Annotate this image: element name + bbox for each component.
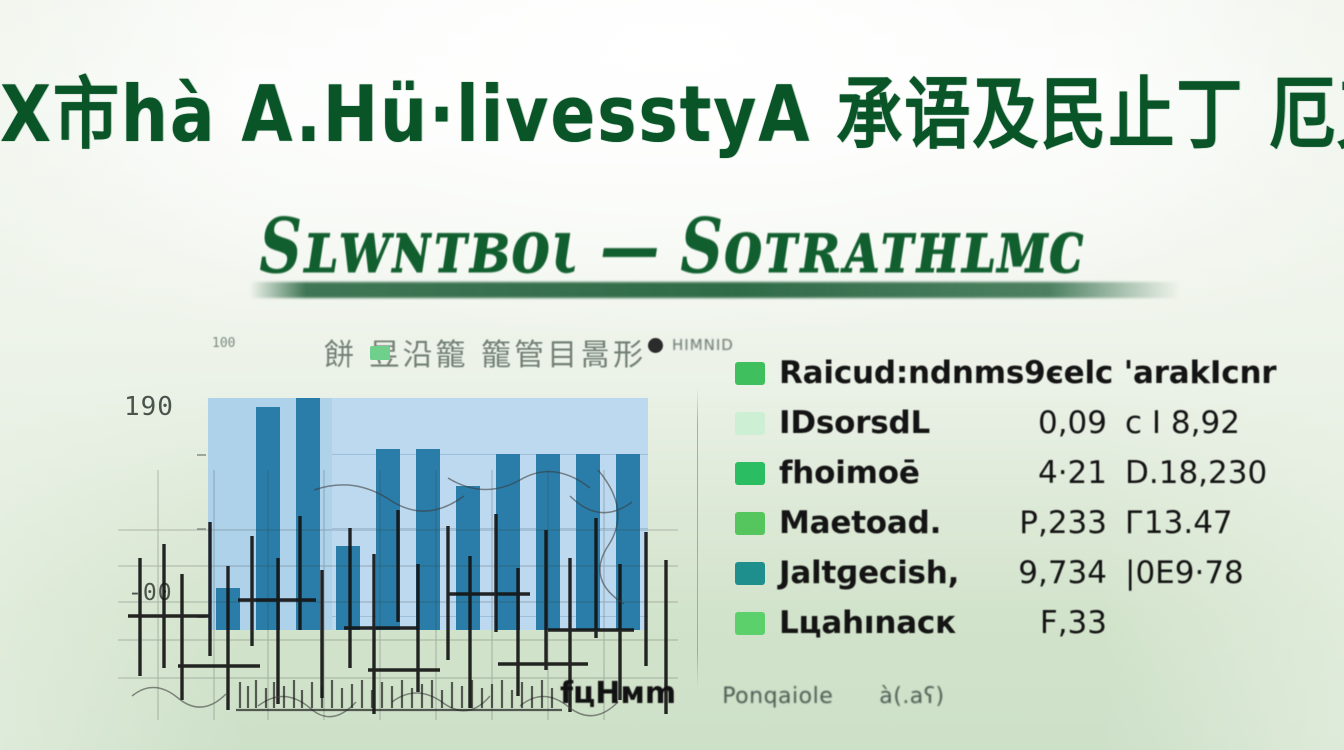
legend-marker-label: HІMNІD xyxy=(672,336,734,354)
subtitle-ink-smear xyxy=(250,282,1180,298)
legend-row-value-primary: 4·21 xyxy=(1038,455,1125,491)
chart-bar xyxy=(456,486,481,630)
axis-tick xyxy=(197,454,206,456)
footer-barcode-texture xyxy=(236,678,566,712)
bar-chart-panel: 100 餅 昱沿籠 籠管目暠形 190 -00 xyxy=(108,330,648,720)
legend-swatch xyxy=(735,462,765,485)
legend-row-value-primary: 0,09 xyxy=(1038,405,1125,441)
chart-header-swatch xyxy=(370,346,390,360)
poster-subtitle-container: Sʟᴡɴᴛʙᴏι — Sᴏᴛʀᴀᴛʜʟᴍᴄ xyxy=(0,216,1344,278)
chart-bar xyxy=(536,454,561,630)
legend-marker: HІMNІD xyxy=(648,336,734,354)
legend-row[interactable]: fhoimoē4·21D.18,230 xyxy=(735,448,1315,498)
chart-bar xyxy=(616,454,641,630)
legend-swatch xyxy=(735,412,765,435)
footer-sub-label-2: à(.aʕ) xyxy=(879,684,944,709)
legend-row-label: Μaetoad. xyxy=(779,505,941,541)
legend-row-label: Jаltɡecish, xyxy=(779,555,959,591)
legend-row-value-secondary: |0E9·78 xyxy=(1125,555,1315,591)
axis-tick xyxy=(197,528,206,530)
y-axis-top-label: 190 xyxy=(124,392,174,422)
legend-table: Raicud:ndnms9єelc 'arakIcnrIDsorsdL0,09c… xyxy=(735,348,1315,648)
y-axis-bottom-label: -00 xyxy=(128,580,173,606)
poster-subtitle: Sʟᴡɴᴛʙᴏι — Sᴏᴛʀᴀᴛʜʟᴍᴄ xyxy=(259,209,1084,285)
legend-row-label: fhoimoē xyxy=(779,455,920,491)
legend-row[interactable]: LцahınаcкF,33 xyxy=(735,598,1315,648)
chart-bar xyxy=(296,398,321,630)
axis-tick xyxy=(197,616,206,618)
chart-bar xyxy=(336,546,361,630)
legend-swatch xyxy=(735,362,765,385)
legend-swatch xyxy=(735,562,765,585)
legend-swatch xyxy=(735,612,765,635)
legend-row-label: Lцahınаcк xyxy=(779,605,956,641)
chart-bar xyxy=(256,407,281,630)
legend-row-value-secondary: Г13.47 xyxy=(1125,505,1315,541)
chart-bar xyxy=(576,454,601,630)
chart-bar xyxy=(376,449,401,630)
legend-row-value-secondary: c I 8,92 xyxy=(1125,405,1315,441)
legend-row[interactable]: Jаltɡecish,9,734|0E9·78 xyxy=(735,548,1315,598)
legend-row-label: Raicud:ndnms9єelc 'arakIcnr xyxy=(779,355,1276,391)
legend-row[interactable]: IDsorsdL0,09c I 8,92 xyxy=(735,398,1315,448)
chart-plot-area xyxy=(208,398,648,630)
panel-divider xyxy=(697,388,698,688)
chart-bar xyxy=(416,449,441,630)
chart-bar xyxy=(496,454,521,630)
chart-bar xyxy=(216,588,241,630)
legend-header-row[interactable]: Raicud:ndnms9єelc 'arakIcnr xyxy=(735,348,1315,398)
legend-swatch xyxy=(735,512,765,535)
legend-row-value-primary: 9,734 xyxy=(1018,555,1125,591)
chart-header-tick-label: 100 xyxy=(212,336,235,351)
chart-header: 100 餅 昱沿籠 籠管目暠形 xyxy=(212,332,632,376)
footer-main-label: fцHмm xyxy=(560,676,676,711)
legend-marker-dot xyxy=(648,338,663,353)
page-title: X市hà A.Hü·livesstуА 承语及民止丁 厄叉田 xyxy=(0,76,1344,154)
legend-row[interactable]: Μaetoad.P,233Г13.47 xyxy=(735,498,1315,548)
poster-canvas: X市hà A.Hü·livesstуА 承语及民止丁 厄叉田 Sʟᴡɴᴛʙᴏι … xyxy=(0,0,1344,750)
poster-title-container: X市hà A.Hü·livesstуА 承语及民止丁 厄叉田 xyxy=(0,82,1344,148)
legend-row-label: IDsorsdL xyxy=(779,405,930,441)
footer-caption: fцHмm Ponqaiole à(.aʕ) xyxy=(560,676,945,711)
legend-row-value-secondary: D.18,230 xyxy=(1125,455,1315,491)
legend-row-value-primary: P,233 xyxy=(1019,505,1125,541)
legend-row-value-primary: F,33 xyxy=(1040,605,1125,641)
footer-sub-label: Ponqaiole xyxy=(722,684,833,709)
